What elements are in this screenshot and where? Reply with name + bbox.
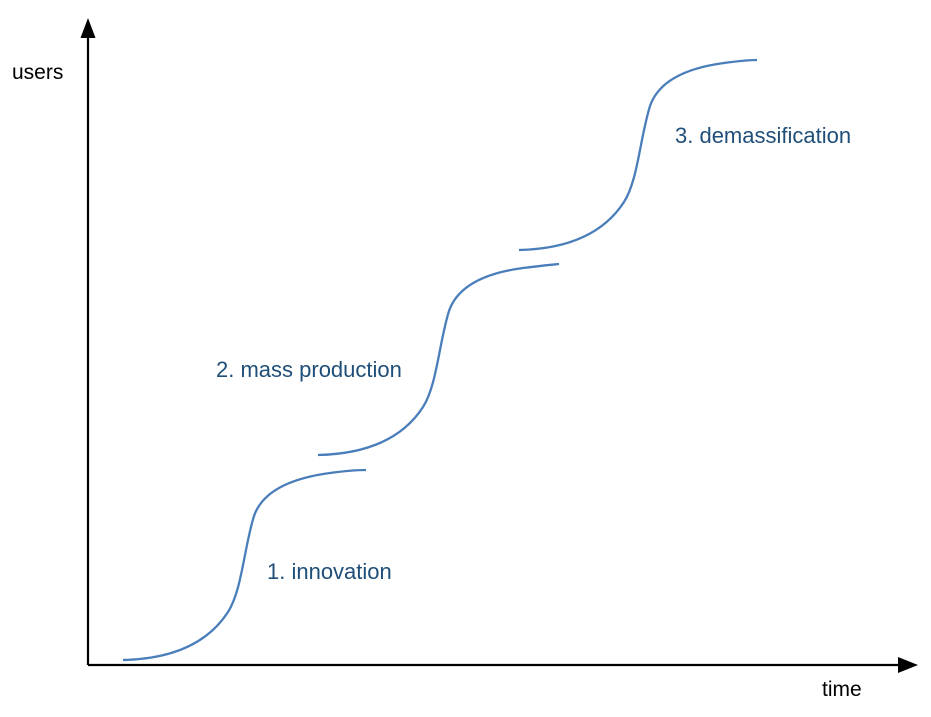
axes-group — [81, 18, 919, 673]
stage-label-mass-production: 2. mass production — [216, 359, 402, 381]
stage-label-demassification: 3. demassification — [675, 125, 851, 147]
stage-label-innovation: 1. innovation — [267, 561, 392, 583]
s-curve-demassification — [519, 60, 757, 250]
x-axis-arrowhead-icon — [898, 657, 918, 673]
y-axis-arrowhead-icon — [81, 18, 96, 38]
x-axis-label: time — [822, 679, 862, 700]
s-curve-plot — [0, 0, 931, 717]
diagram-canvas: users time 1. innovation 2. mass product… — [0, 0, 931, 717]
y-axis-label: users — [12, 62, 63, 83]
